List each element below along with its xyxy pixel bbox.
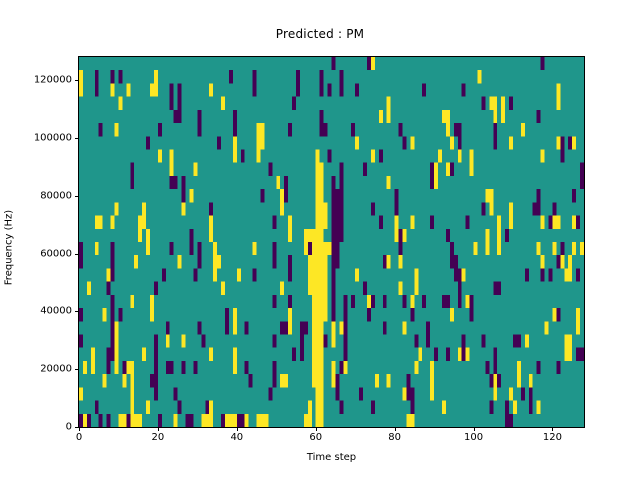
y-tick-label: 100000 [34, 132, 72, 143]
y-tick-mark [75, 369, 79, 370]
x-tick-mark [552, 427, 553, 431]
x-tick-label: 40 [230, 432, 243, 443]
y-tick-label: 0 [66, 422, 72, 433]
y-tick-label: 60000 [40, 248, 72, 259]
x-tick-mark [474, 427, 475, 431]
y-tick-mark [75, 138, 79, 139]
x-tick-mark [316, 427, 317, 431]
x-tick-label: 80 [388, 432, 401, 443]
y-tick-mark [75, 254, 79, 255]
page-title: Predicted : PM [0, 27, 640, 41]
y-tick-mark [75, 80, 79, 81]
y-tick-mark [75, 311, 79, 312]
x-tick-label: 20 [152, 432, 165, 443]
x-tick-mark [158, 427, 159, 431]
x-tick-label: 120 [543, 432, 562, 443]
matplotlib-figure: Predicted : PM 0200004000060000800001000… [0, 0, 640, 480]
y-tick-mark [75, 196, 79, 197]
x-tick-mark [395, 427, 396, 431]
x-tick-label: 100 [464, 432, 483, 443]
x-tick-mark [79, 427, 80, 431]
y-axis-label: Frequency (Hz) [4, 63, 15, 433]
y-tick-label: 40000 [40, 306, 72, 317]
y-tick-label: 20000 [40, 364, 72, 375]
x-axis-label: Time step [79, 452, 584, 463]
heatmap-axes [78, 56, 585, 428]
x-tick-label: 60 [309, 432, 322, 443]
x-tick-label: 0 [76, 432, 82, 443]
x-tick-mark [237, 427, 238, 431]
y-tick-label: 120000 [34, 75, 72, 86]
y-tick-label: 80000 [40, 190, 72, 201]
heatmap-image [79, 57, 584, 427]
